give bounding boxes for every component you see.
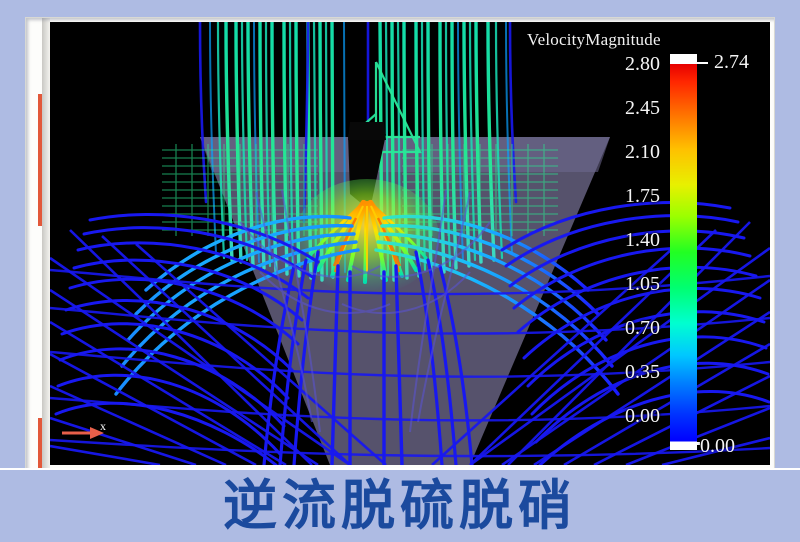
legend-tick: 0.00 — [542, 394, 660, 438]
orientation-axes-widget[interactable]: x — [60, 417, 120, 447]
legend-tick: 1.05 — [542, 262, 660, 306]
streamline-visualization — [50, 22, 770, 465]
legend-min-value: 0.00 — [700, 435, 735, 458]
legend-tick: 2.80 — [542, 42, 660, 86]
legend-tick: 0.35 — [542, 350, 660, 394]
panel-edge-gradient — [42, 18, 50, 470]
legend-max-value: 2.74 — [714, 51, 749, 74]
legend-tick: 2.45 — [542, 86, 660, 130]
legend-tick: 1.75 — [542, 174, 660, 218]
color-legend-ticks: 2.80 2.45 2.10 1.75 1.40 1.05 0.70 0.35 … — [542, 42, 660, 438]
x-axis-label: x — [100, 419, 106, 434]
screenshot-root: VelocityMagnitude 2.80 2.45 2.10 1.75 1.… — [0, 0, 800, 542]
panel-edge-strip-top — [38, 94, 42, 226]
color-legend-bar[interactable] — [670, 54, 697, 450]
x-axis-arrow-icon — [60, 417, 120, 447]
legend-tick: 2.10 — [542, 130, 660, 174]
caption-text: 逆流脱硫脱硝 — [223, 479, 577, 533]
caption-band: 逆流脱硫脱硝 — [0, 470, 800, 542]
legend-tick: 0.70 — [542, 306, 660, 350]
legend-max-marker — [690, 62, 708, 64]
render-viewport[interactable]: VelocityMagnitude 2.80 2.45 2.10 1.75 1.… — [50, 22, 770, 465]
legend-min-marker — [680, 442, 700, 445]
panel-edge-strip-bottom — [38, 418, 42, 470]
legend-tick: 1.40 — [542, 218, 660, 262]
